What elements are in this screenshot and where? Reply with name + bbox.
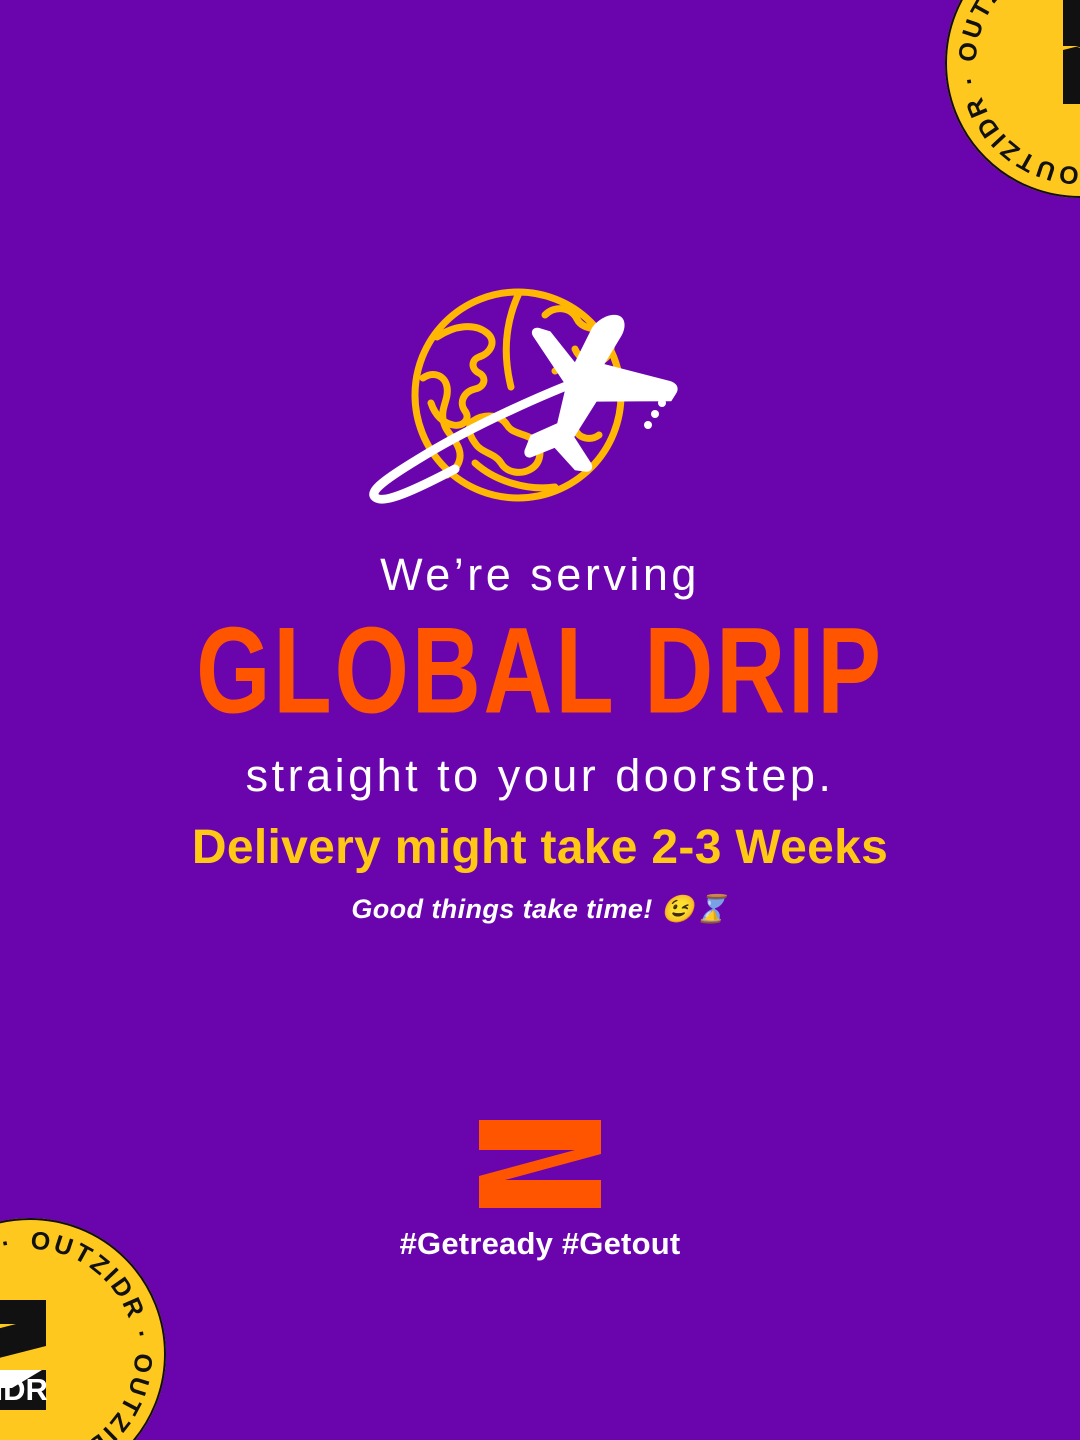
headline-line-3: straight to your doorstep. <box>0 753 1080 798</box>
badge-top-right: OUTZIDR · OUTZIDR · OUTZIDR · OUTZIDR · <box>945 0 1080 198</box>
headline-block: We’re serving GLOBAL DRIP straight to yo… <box>0 552 1080 798</box>
headline-line-2: GLOBAL DRIP <box>43 610 1037 733</box>
footer-hashtags: #Getready #Getout <box>0 1226 1080 1262</box>
delivery-block: Delivery might take 2-3 Weeks Good thing… <box>0 824 1080 923</box>
promo-poster: OUTZIDR · OUTZIDR · OUTZIDR · OUTZIDR · … <box>0 0 1080 1440</box>
footer-block: #Getready #Getout <box>0 1118 1080 1262</box>
delivery-headline: Delivery might take 2-3 Weeks <box>0 824 1080 872</box>
airplane-icon <box>507 307 687 480</box>
outzidr-z-logo <box>475 1118 605 1210</box>
delivery-subline: Good things take time! 😉⌛ <box>0 896 1080 923</box>
headline-line-1: We’re serving <box>0 552 1080 597</box>
globe-airplane-illustration <box>355 275 725 515</box>
